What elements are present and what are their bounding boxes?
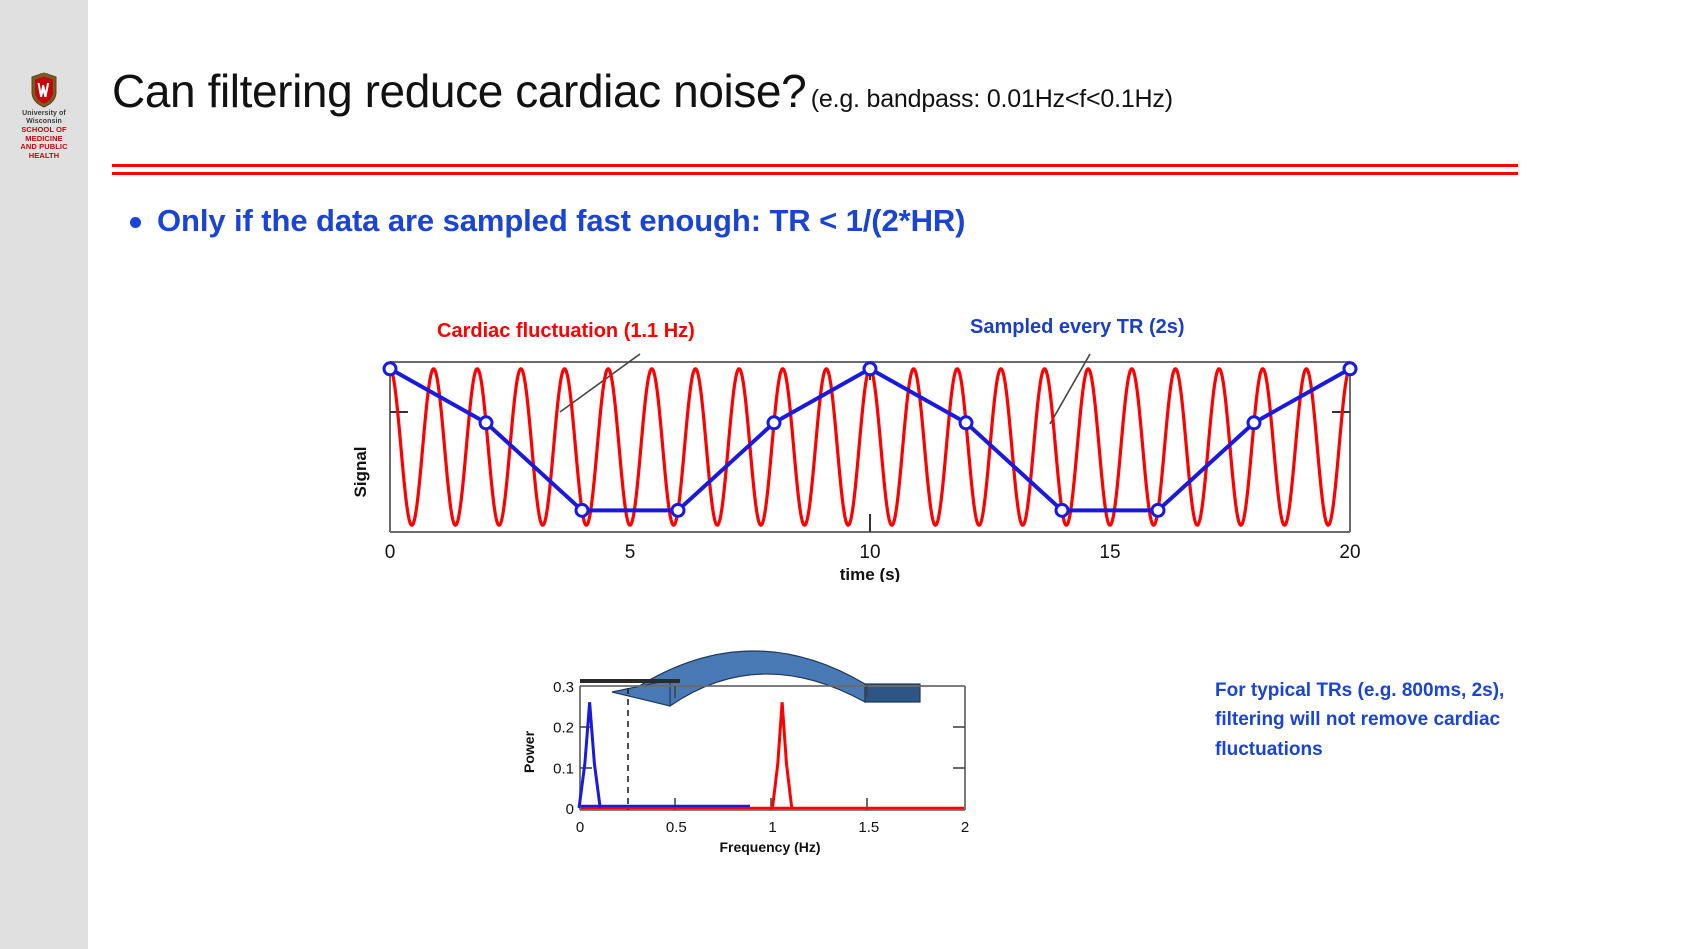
title-rule-top (112, 164, 1518, 167)
timeseries-xticks: 05101520 (385, 542, 1361, 563)
sample-marker (384, 363, 396, 375)
logo-line-3: AND PUBLIC HEALTH (6, 143, 82, 160)
aliased-peak (579, 702, 600, 808)
bullet-item: Only if the data are sampled fast enough… (130, 203, 965, 239)
sample-marker (768, 417, 780, 429)
sample-marker (864, 363, 876, 375)
aliasing-arrow (580, 651, 920, 706)
timeseries-xtick: 5 (625, 542, 636, 563)
annotation-cardiac: Cardiac fluctuation (1.1 Hz) (437, 320, 695, 343)
spectrum-ytick: 0.3 (553, 679, 574, 696)
timeseries-chart: Signal 05101520 time (s) (350, 352, 1390, 582)
cardiac-peak (773, 702, 792, 808)
uw-logo: University of Wisconsin SCHOOL OF MEDICI… (6, 72, 82, 161)
timeseries-ylabel: Signal (351, 446, 370, 497)
logo-line-2: SCHOOL OF MEDICINE (6, 126, 82, 143)
spectrum-ytick: 0.1 (553, 760, 574, 777)
spectrum-xtick: 2 (961, 819, 969, 836)
logo-line-1: University of Wisconsin (6, 110, 82, 126)
timeseries-axes (390, 362, 1350, 532)
spectrum-axes (580, 686, 965, 810)
spectrum-xtick: 0 (576, 819, 584, 836)
cardiac-waveform (390, 369, 1350, 525)
spectrum-xtick: 1.5 (858, 819, 879, 836)
slide: University of Wisconsin SCHOOL OF MEDICI… (0, 0, 1687, 949)
spectrum-yticks: 00.10.20.3 (553, 679, 574, 818)
uw-crest-icon (29, 72, 59, 108)
title-rule-bottom (112, 172, 1518, 175)
spectrum-ytick: 0.2 (553, 720, 574, 737)
timeseries-xtick: 15 (1099, 542, 1120, 563)
sample-marker (960, 417, 972, 429)
timeseries-xtick: 0 (385, 542, 396, 563)
title-sub-text: (e.g. bandpass: 0.01Hz<f<0.1Hz) (811, 85, 1173, 113)
sample-marker (576, 504, 588, 516)
spectrum-xticks: 00.511.52 (576, 819, 969, 836)
sample-marker (1152, 504, 1164, 516)
annotation-sampled: Sampled every TR (2s) (970, 316, 1185, 339)
sampled-waveform (390, 369, 1350, 511)
spectrum-xtick: 0.5 (666, 819, 687, 836)
timeseries-xtick: 20 (1339, 542, 1360, 563)
sample-marker (1344, 363, 1356, 375)
sample-marker (480, 417, 492, 429)
timeseries-xlabel: time (s) (840, 565, 900, 582)
bullet-dot-icon (130, 217, 141, 228)
spectrum-xtick: 1 (768, 819, 776, 836)
spectrum-chart: Power 00.10.20.3 00.511.52 Frequency (Hz… (520, 640, 990, 855)
timeseries-xtick: 10 (859, 542, 880, 563)
sample-marker (1248, 417, 1260, 429)
spectrum-ytick: 0 (566, 801, 574, 818)
bullet-text: Only if the data are sampled fast enough… (157, 203, 965, 239)
explanatory-note: For typical TRs (e.g. 800ms, 2s), filter… (1215, 676, 1545, 764)
page-title: Can filtering reduce cardiac noise? (e.g… (112, 64, 1632, 118)
branding-strip: University of Wisconsin SCHOOL OF MEDICI… (0, 0, 88, 949)
sample-marker (672, 504, 684, 516)
sample-marker (1056, 504, 1068, 516)
spectrum-ylabel: Power (521, 730, 537, 773)
title-main-text: Can filtering reduce cardiac noise? (112, 65, 806, 117)
spectrum-xlabel: Frequency (Hz) (719, 839, 820, 855)
